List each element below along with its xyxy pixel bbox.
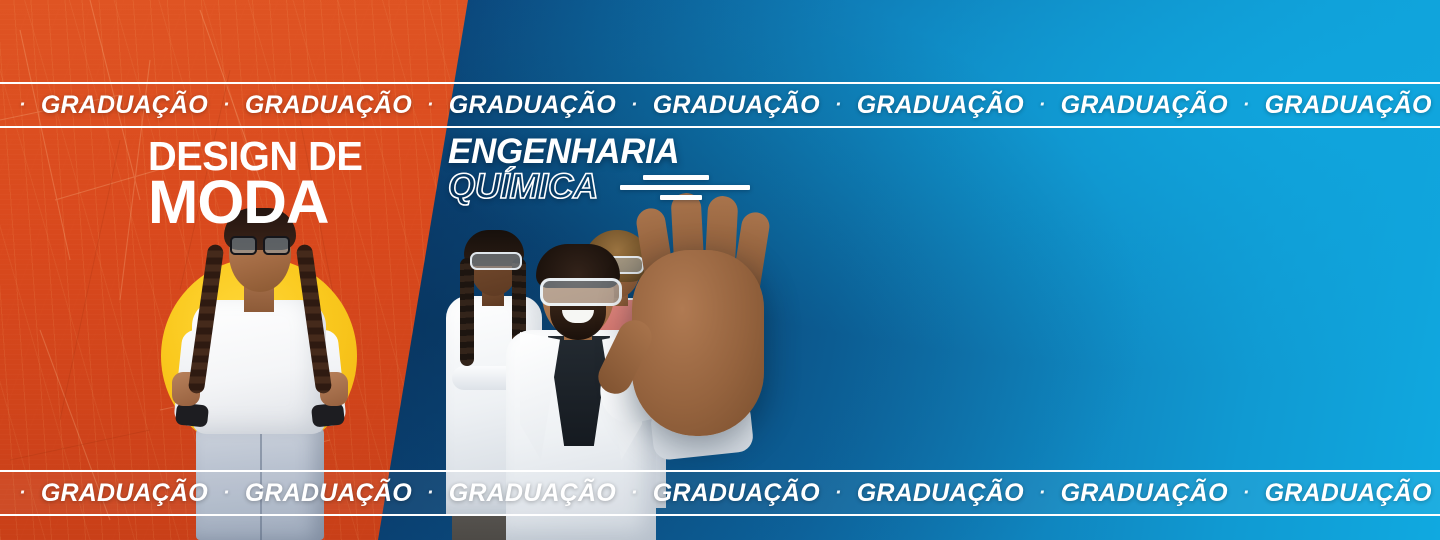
ticker-item: GRADUAÇÃO	[445, 91, 620, 120]
ticker-separator: ·	[1028, 95, 1057, 115]
ticker-item: GRADUAÇÃO	[649, 479, 824, 508]
engineering-title-line-1: ENGENHARIA	[448, 136, 679, 168]
ticker-separator: ·	[620, 483, 649, 503]
student-one-safety-goggles	[470, 252, 522, 270]
promo-banner: DESIGN DE MODA ENGENHARIA QUÍMICA ·GRADU…	[0, 0, 1440, 540]
hand-palm	[632, 250, 764, 436]
ticker-separator: ·	[1232, 95, 1261, 115]
ticker-item: GRADUAÇÃO	[1261, 479, 1436, 508]
people-photography	[0, 0, 1440, 540]
engineering-course-title: ENGENHARIA QUÍMICA	[448, 136, 679, 203]
ticker-separator: ·	[824, 483, 853, 503]
fashion-title-line-2: MODA	[148, 176, 376, 230]
student-one-left-braid	[460, 258, 474, 366]
ticker-separator: ·	[8, 95, 37, 115]
ticker-item: GRADUAÇÃO	[241, 479, 416, 508]
ticker-bottom-items: ·GRADUAÇÃO·GRADUAÇÃO·GRADUAÇÃO·GRADUAÇÃO…	[0, 479, 1440, 508]
ticker-strip-top: ·GRADUAÇÃO·GRADUAÇÃO·GRADUAÇÃO·GRADUAÇÃO…	[0, 82, 1440, 128]
ticker-item: GRADUAÇÃO	[649, 91, 824, 120]
model-eyeglasses	[230, 236, 290, 251]
ticker-separator: ·	[1436, 95, 1440, 115]
ticker-separator: ·	[824, 95, 853, 115]
student-three-safety-goggles	[540, 278, 622, 306]
ticker-item: GRADUAÇÃO	[853, 479, 1028, 508]
model-right-cuff	[311, 402, 345, 427]
ticker-item: GRADUAÇÃO	[853, 91, 1028, 120]
ticker-item: GRADUAÇÃO	[1057, 91, 1232, 120]
ticker-separator: ·	[1232, 483, 1261, 503]
ticker-item: GRADUAÇÃO	[1261, 91, 1436, 120]
ticker-item: GRADUAÇÃO	[445, 479, 620, 508]
ticker-separator: ·	[8, 483, 37, 503]
ticker-item: GRADUAÇÃO	[37, 91, 212, 120]
ticker-separator: ·	[1028, 483, 1057, 503]
ticker-item: GRADUAÇÃO	[241, 91, 416, 120]
ticker-separator: ·	[1436, 483, 1440, 503]
ticker-item: GRADUAÇÃO	[37, 479, 212, 508]
ticker-separator: ·	[212, 483, 241, 503]
fashion-course-title: DESIGN DE MODA	[148, 138, 378, 230]
ticker-separator: ·	[620, 95, 649, 115]
ticker-separator: ·	[416, 483, 445, 503]
model-left-cuff	[175, 402, 209, 427]
ticker-separator: ·	[416, 95, 445, 115]
ticker-separator: ·	[212, 95, 241, 115]
ticker-item: GRADUAÇÃO	[1057, 479, 1232, 508]
ticker-strip-bottom: ·GRADUAÇÃO·GRADUAÇÃO·GRADUAÇÃO·GRADUAÇÃO…	[0, 470, 1440, 516]
ticker-top-items: ·GRADUAÇÃO·GRADUAÇÃO·GRADUAÇÃO·GRADUAÇÃO…	[0, 91, 1440, 120]
